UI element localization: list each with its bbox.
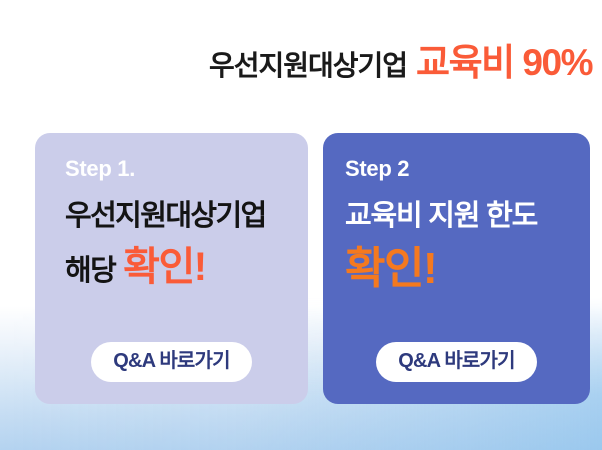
headline-accent-text: 교육비 90% bbox=[416, 42, 592, 83]
qna-link-button-2[interactable]: Q&A 바로가기 bbox=[376, 342, 536, 382]
headline: 우선지원대상기업교육비 90% bbox=[0, 44, 602, 81]
step-card-2-line-1-text: 교육비 지원 한도 bbox=[345, 200, 537, 232]
headline-lead-text: 우선지원대상기업 bbox=[209, 50, 407, 81]
qna-link-button-1[interactable]: Q&A 바로가기 bbox=[91, 342, 251, 382]
step-label-1: Step 1. bbox=[65, 158, 308, 180]
step-card-2-cta-wrap: Q&A 바로가기 bbox=[323, 342, 590, 382]
promo-banner: 우선지원대상기업교육비 90% Step 1. 우선지원대상기업 해당확인! Q… bbox=[0, 0, 602, 450]
step-card-1-line-1-text: 우선지원대상기업 bbox=[65, 200, 266, 232]
step-card-1-line-1: 우선지원대상기업 bbox=[65, 202, 308, 231]
step-card-2[interactable]: Step 2 교육비 지원 한도 확인! Q&A 바로가기 bbox=[323, 133, 590, 404]
step-card-2-line-2-accent: 확인! bbox=[345, 244, 436, 293]
step-card-1-line-2: 해당확인! bbox=[65, 247, 308, 287]
step-card-2-line-1: 교육비 지원 한도 bbox=[345, 202, 590, 231]
step-card-1-line-2-accent: 확인! bbox=[123, 245, 205, 289]
step-card-1[interactable]: Step 1. 우선지원대상기업 해당확인! Q&A 바로가기 bbox=[35, 133, 308, 404]
step-card-2-line-2: 확인! bbox=[345, 247, 590, 291]
step-card-1-cta-wrap: Q&A 바로가기 bbox=[35, 342, 308, 382]
step-card-1-line-2-lead: 해당 bbox=[65, 255, 115, 287]
step-card-group: Step 1. 우선지원대상기업 해당확인! Q&A 바로가기 Step 2 교… bbox=[35, 133, 590, 404]
step-label-2: Step 2 bbox=[345, 158, 590, 180]
